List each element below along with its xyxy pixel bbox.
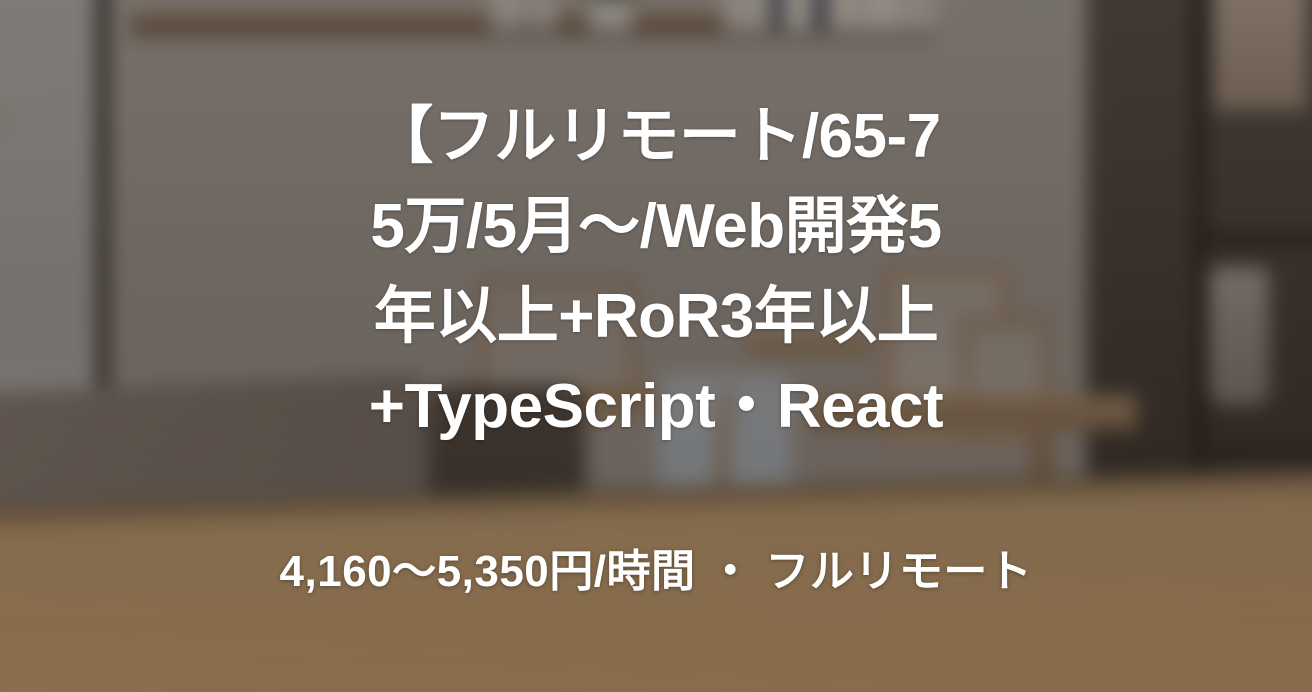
subtitle-text: 4,160〜5,350円/時間 ・ フルリモート <box>0 546 1312 599</box>
job-posting-card: 【フルリモート/65-75万/5月〜/Web開発5年以上+RoR3年以上+Typ… <box>0 0 1312 692</box>
headline-text: 【フルリモート/65-75万/5月〜/Web開発5年以上+RoR3年以上+Typ… <box>356 92 956 452</box>
